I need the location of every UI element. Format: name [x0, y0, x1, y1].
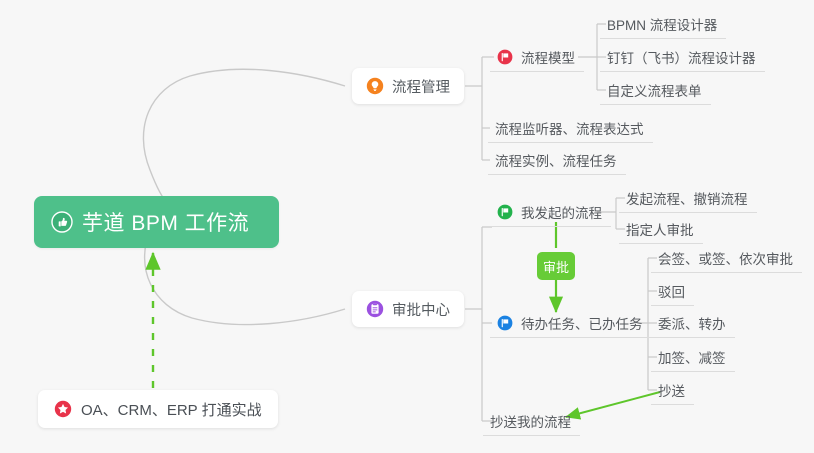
callout-integration-label: OA、CRM、ERP 打通实战 — [81, 399, 262, 420]
node-cc-label: 抄送 — [658, 380, 685, 400]
node-instance-task[interactable]: 流程实例、流程任务 — [488, 145, 626, 175]
node-reject-label: 驳回 — [658, 281, 685, 301]
node-process-model-label: 流程模型 — [521, 47, 575, 67]
node-dingtalk-feishu-designer[interactable]: 钉钉（飞书）流程设计器 — [600, 42, 765, 72]
approval-tag[interactable]: 审批 — [537, 252, 575, 280]
node-approval-center-label: 审批中心 — [392, 299, 450, 320]
node-cc-to-me-process[interactable]: 抄送我的流程 — [483, 406, 580, 436]
node-listener-expression[interactable]: 流程监听器、流程表达式 — [488, 113, 653, 143]
node-add-remove-sign-label: 加签、减签 — [658, 347, 726, 367]
node-delegate-transfer[interactable]: 委派、转办 — [651, 308, 735, 338]
node-listener-expression-label: 流程监听器、流程表达式 — [495, 118, 644, 138]
node-custom-process-form-label: 自定义流程表单 — [607, 80, 702, 100]
node-my-initiated-process-label: 我发起的流程 — [521, 202, 602, 222]
node-process-management[interactable]: 流程管理 — [352, 68, 464, 104]
node-approval-center[interactable]: 审批中心 — [352, 291, 464, 327]
callout-integration[interactable]: OA、CRM、ERP 打通实战 — [38, 390, 278, 428]
node-bpmn-designer-label: BPMN 流程设计器 — [607, 14, 717, 34]
lightbulb-icon — [366, 77, 384, 95]
root-label: 芋道 BPM 工作流 — [82, 207, 249, 237]
node-start-cancel-process[interactable]: 发起流程、撤销流程 — [619, 183, 757, 213]
flag-icon — [497, 49, 513, 65]
node-counter-or-sequential-sign[interactable]: 会签、或签、依次审批 — [651, 243, 802, 273]
approval-tag-label: 审批 — [543, 257, 569, 276]
flag-icon — [497, 315, 513, 331]
flag-icon — [497, 204, 513, 220]
node-bpmn-designer[interactable]: BPMN 流程设计器 — [600, 9, 726, 39]
node-add-remove-sign[interactable]: 加签、减签 — [651, 342, 735, 372]
node-reject[interactable]: 驳回 — [651, 276, 694, 306]
node-cc-to-me-process-label: 抄送我的流程 — [490, 411, 571, 431]
node-start-cancel-process-label: 发起流程、撤销流程 — [626, 188, 748, 208]
node-process-management-label: 流程管理 — [392, 76, 450, 97]
node-todo-done-tasks-label: 待办任务、已办任务 — [521, 313, 643, 333]
node-dingtalk-feishu-designer-label: 钉钉（飞书）流程设计器 — [607, 47, 756, 67]
node-instance-task-label: 流程实例、流程任务 — [495, 150, 617, 170]
node-custom-process-form[interactable]: 自定义流程表单 — [600, 75, 711, 105]
root-node[interactable]: 芋道 BPM 工作流 — [34, 196, 279, 248]
node-counter-or-sequential-sign-label: 会签、或签、依次审批 — [658, 248, 793, 268]
mindmap-canvas: 芋道 BPM 工作流 流程管理 流程模型 BPMN 流程设计器 钉钉（飞书）流程… — [0, 0, 814, 453]
connector-root-branch-top — [143, 69, 345, 205]
star-icon — [54, 400, 72, 418]
node-assignee-approval[interactable]: 指定人审批 — [619, 214, 703, 244]
node-todo-done-tasks[interactable]: 待办任务、已办任务 — [490, 308, 652, 338]
node-delegate-transfer-label: 委派、转办 — [658, 313, 726, 333]
node-my-initiated-process[interactable]: 我发起的流程 — [490, 197, 611, 227]
clipboard-icon — [366, 300, 384, 318]
arrow-cc-to-cc-process — [566, 392, 660, 417]
node-cc[interactable]: 抄送 — [651, 375, 694, 405]
thumbs-up-icon — [51, 211, 73, 233]
node-assignee-approval-label: 指定人审批 — [626, 219, 694, 239]
node-process-model[interactable]: 流程模型 — [490, 42, 584, 72]
